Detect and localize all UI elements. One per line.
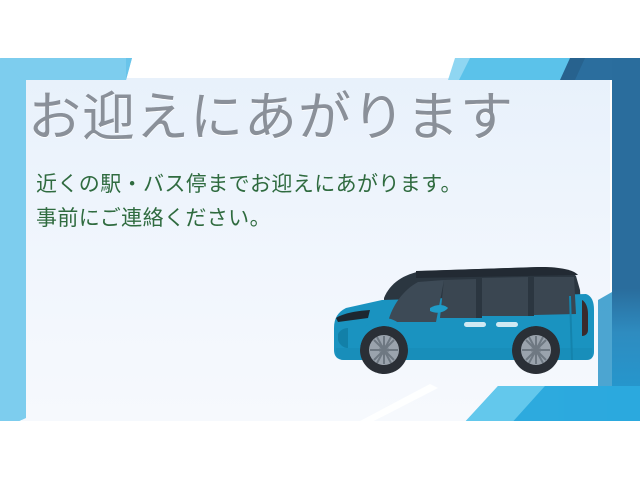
rear-wheel (512, 326, 560, 374)
background-decor (0, 0, 640, 480)
minivan-side-view (324, 256, 624, 381)
body-line-1: 近くの駅・バス停までお迎えにあがります。 (36, 168, 600, 202)
sliding-door-glass (482, 277, 528, 316)
front-wheel (360, 326, 408, 374)
page-title: お迎えにあがります (28, 90, 600, 146)
front-door-glass (440, 279, 476, 318)
body-text: 近くの駅・バス停までお迎えにあがります。 事前にご連絡ください。 (36, 168, 600, 236)
front-door-handle (464, 322, 486, 327)
top-white-strip (0, 0, 640, 58)
c-pillar (528, 277, 534, 316)
text-block: お迎えにあがります 近くの駅・バス停までお迎えにあがります。 事前にご連絡くださ… (0, 90, 600, 236)
promo-banner: お迎えにあがります 近くの駅・バス停までお迎えにあがります。 事前にご連絡くださ… (0, 0, 640, 480)
body-line-2: 事前にご連絡ください。 (36, 202, 600, 236)
top-right-angled-block (448, 58, 640, 80)
bottom-white-strip (0, 421, 640, 480)
b-pillar (476, 278, 482, 318)
rear-door-handle (496, 322, 518, 327)
